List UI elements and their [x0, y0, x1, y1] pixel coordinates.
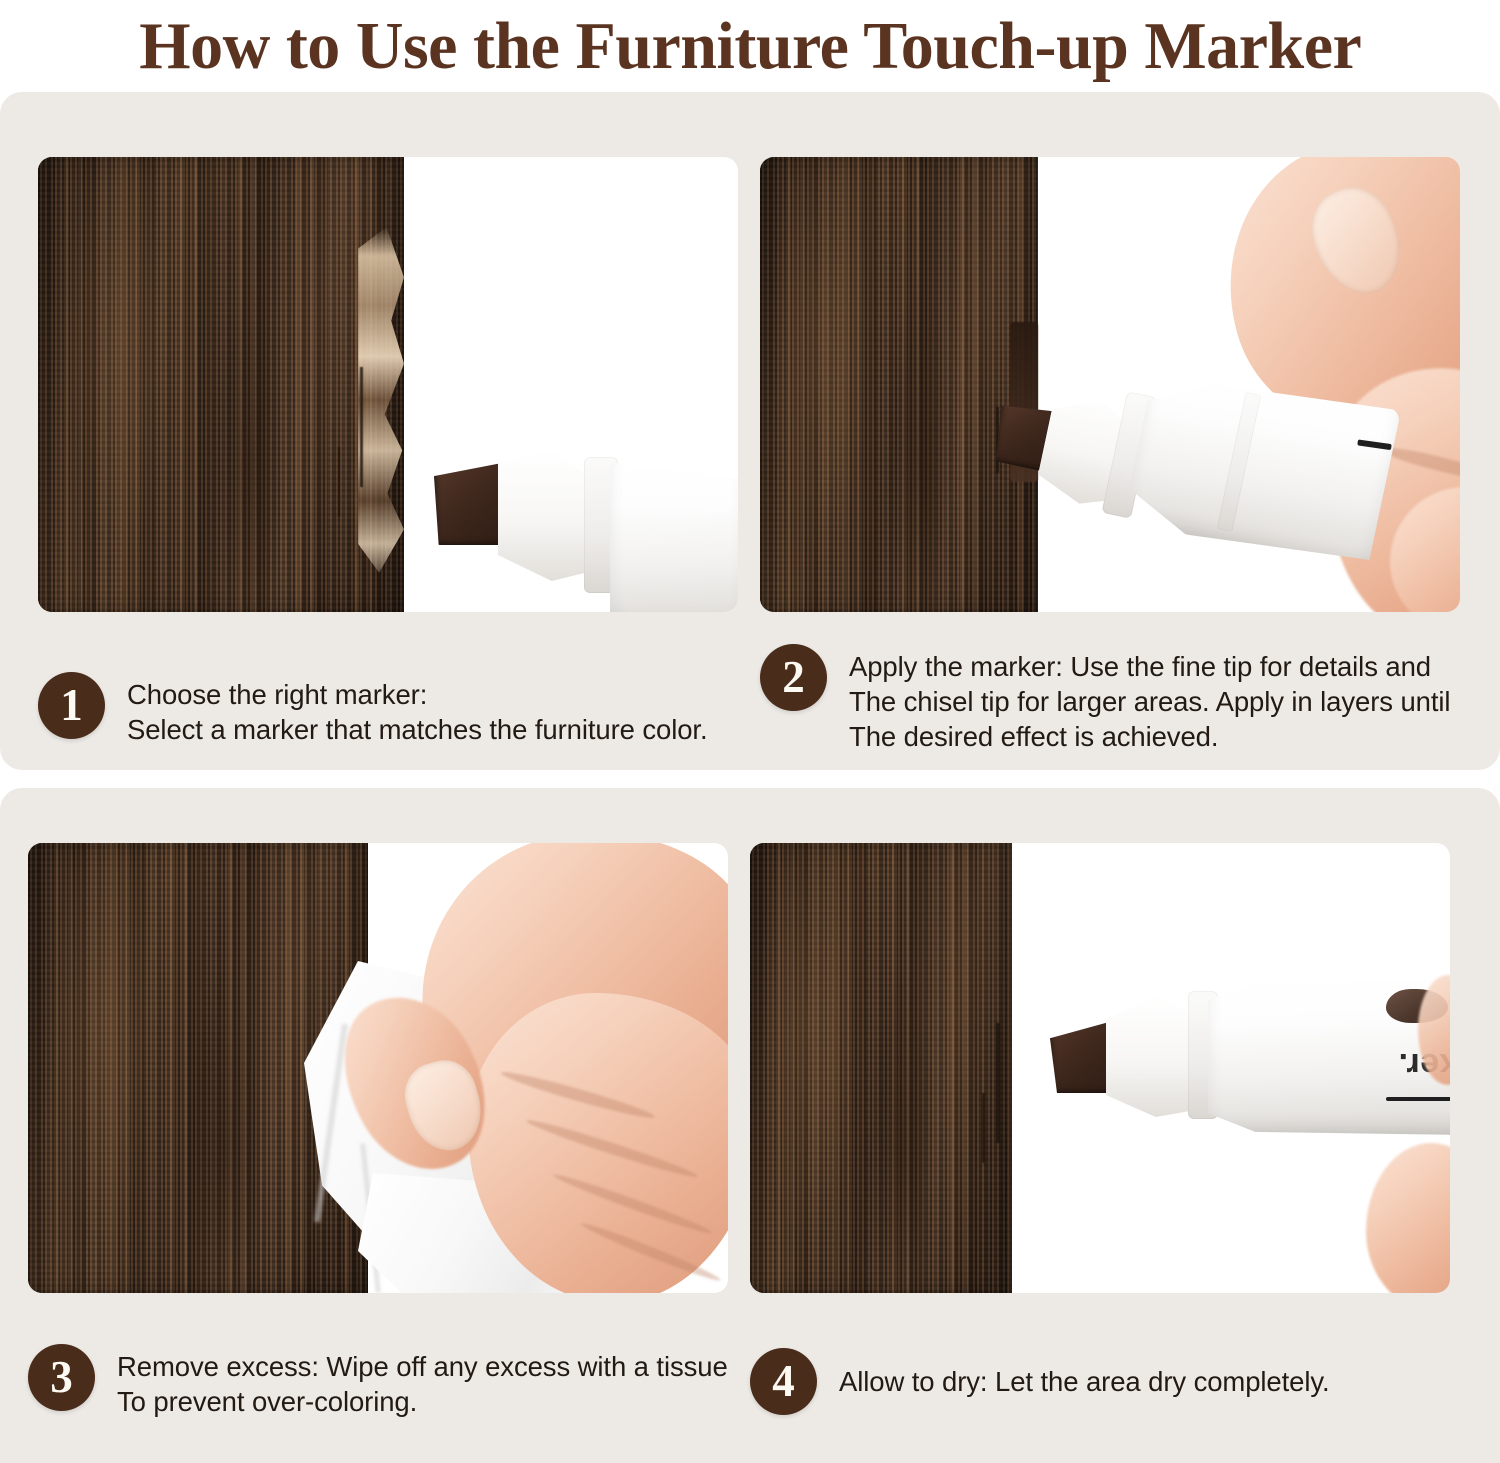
photo-step-4: ker.	[750, 843, 1450, 1293]
steps-panel-bottom: ker. 3 Remove excess: Wipe off any exces…	[0, 788, 1500, 1463]
marker-stripe-icon	[1386, 1097, 1450, 1101]
wood-crack-icon	[338, 447, 340, 517]
marker-barrel-icon	[610, 459, 738, 612]
photo-step-3	[28, 843, 728, 1293]
wood-crack-icon	[996, 1023, 1000, 1143]
page-title: How to Use the Furniture Touch-up Marker	[139, 11, 1361, 81]
step-3-caption: 3 Remove excess: Wipe off any excess wit…	[28, 1316, 750, 1419]
photo-row-top	[0, 157, 1500, 612]
marker-icon	[434, 451, 738, 612]
step-number-badge: 4	[750, 1348, 817, 1415]
wood-plank-icon	[750, 843, 1012, 1293]
steps-panel-top: 1 Choose the right marker: Select a mark…	[0, 92, 1500, 770]
step-number-badge: 1	[38, 672, 105, 739]
wood-plank-icon	[760, 157, 1038, 612]
caption-row-bottom: 3 Remove excess: Wipe off any excess wit…	[0, 1316, 1500, 1419]
header: How to Use the Furniture Touch-up Marker	[0, 0, 1500, 92]
step-2-caption: 2 Apply the marker: Use the fine tip for…	[760, 644, 1482, 754]
wood-crack-icon	[982, 1093, 985, 1163]
photo-step-1	[38, 157, 738, 612]
wood-plank-icon	[38, 157, 404, 612]
wood-crack-icon	[360, 367, 363, 487]
marker-barrel-icon	[1122, 359, 1401, 573]
photo-row-bottom: ker.	[0, 843, 1500, 1293]
step-1-text: Choose the right marker: Select a marker…	[127, 672, 708, 747]
marker-cone-icon	[1106, 995, 1198, 1117]
marker-cone-icon	[498, 451, 594, 581]
step-3-text: Remove excess: Wipe off any excess with …	[117, 1344, 728, 1419]
finger-icon	[1366, 1143, 1450, 1293]
step-2-text: Apply the marker: Use the fine tip for d…	[849, 644, 1450, 754]
step-number-badge: 3	[28, 1344, 95, 1411]
photo-step-2	[760, 157, 1460, 612]
marker-icon: ker.	[1050, 973, 1450, 1143]
step-4-text: Allow to dry: Let the area dry completel…	[839, 1364, 1330, 1399]
step-1-caption: 1 Choose the right marker: Select a mark…	[38, 644, 760, 754]
step-number-badge: 2	[760, 644, 827, 711]
step-4-caption: 4 Allow to dry: Let the area dry complet…	[750, 1316, 1472, 1419]
caption-row-top: 1 Choose the right marker: Select a mark…	[0, 644, 1500, 754]
